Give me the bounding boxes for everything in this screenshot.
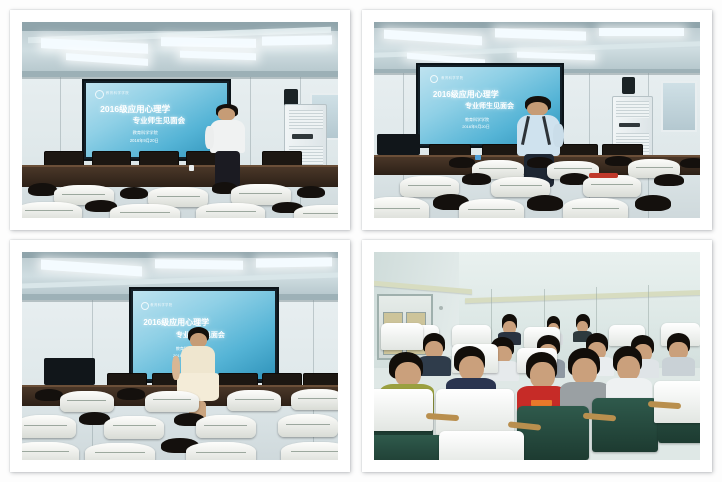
window (661, 81, 698, 132)
photo-bottom-right[interactable] (374, 252, 700, 460)
screen-headline-line2: 专业师生见面会 (133, 115, 186, 126)
presenter-male (202, 104, 256, 186)
wall-speaker-icon (622, 77, 635, 94)
screen-headline-line2: 专业师生见面会 (465, 101, 514, 111)
photo-collage: 教育科学学院 2016级应用心理学 专业师生见面会 教育科学学院 2016年9月… (0, 0, 722, 482)
screen-subtitle-line2: 2016年9月20日 (130, 138, 159, 144)
screen-subtitle-line2: 2016年9月20日 (462, 124, 490, 130)
photo-top-right[interactable]: 教育科学学院 2016级应用心理学 专业师生见面会 教育科学学院 2016年9月… (374, 22, 700, 218)
screen-subtitle-line1: 教育科学学院 (465, 117, 489, 123)
screen-logo-label: 教育科学学院 (441, 75, 463, 80)
screen-subtitle-line1: 教育科学学院 (133, 130, 158, 136)
screen-logo-label: 教育科学学院 (106, 90, 129, 95)
screen-logo-label: 教育科学学院 (150, 302, 172, 307)
photo-top-left[interactable]: 教育科学学院 2016级应用心理学 专业师生见面会 教育科学学院 2016年9月… (22, 22, 338, 218)
photo-bottom-left[interactable]: 教育科学学院 2016级应用心理学 专业师生见面会 教育科学学院 2016年9月… (22, 252, 338, 460)
screen-headline-line1: 2016级应用心理学 (100, 103, 170, 115)
screen-headline-line1: 2016级应用心理学 (433, 89, 499, 100)
